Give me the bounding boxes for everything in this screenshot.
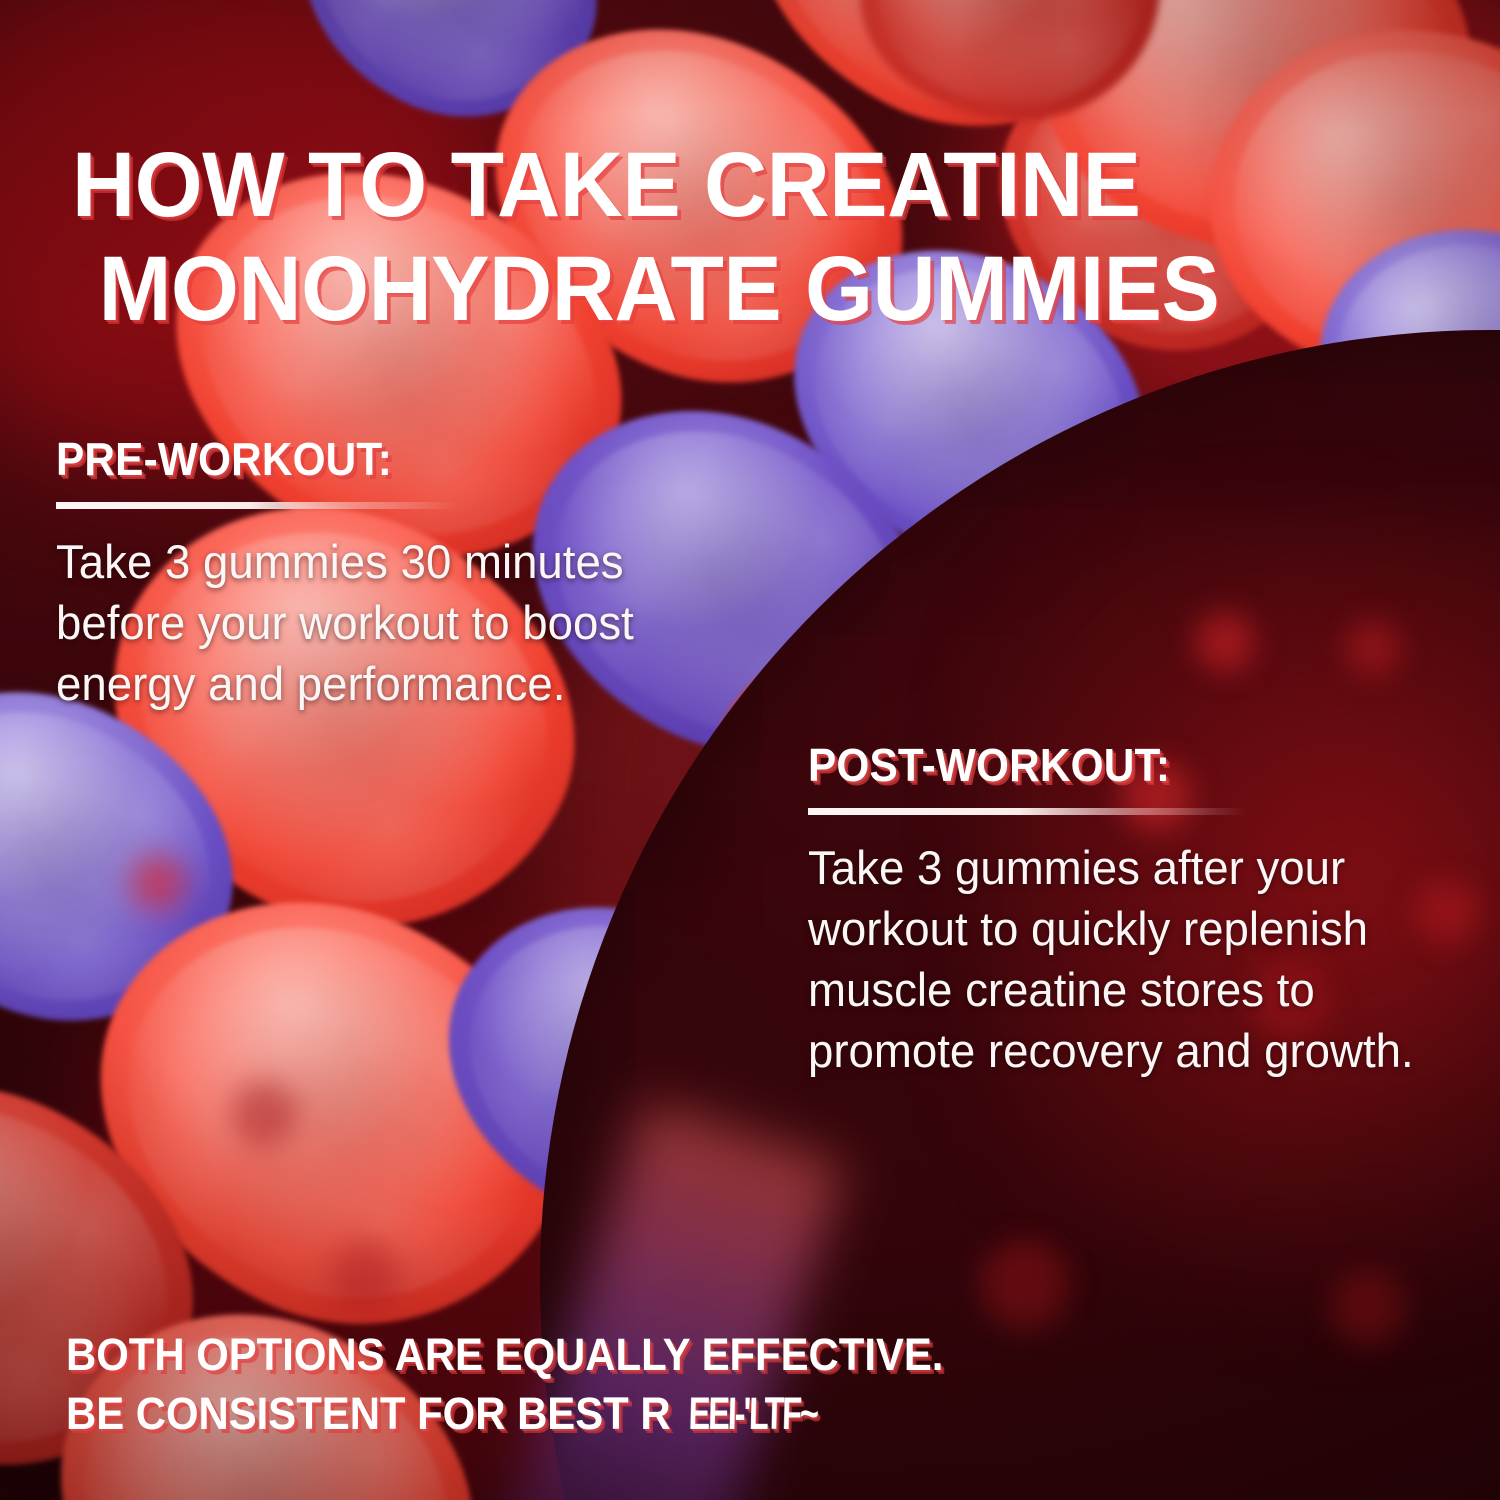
footer-note: BOTH OPTIONS ARE EQUALLY EFFECTIVE. BE C…: [66, 1326, 943, 1443]
section-post-workout: POST-WORKOUT: Take 3 gummies after your …: [808, 738, 1468, 1128]
section-pre-workout-body: Take 3 gummies 30 minutes before your wo…: [56, 531, 735, 714]
footer-line-2: BE CONSISTENT FOR BEST REEI-'LTF~: [66, 1385, 943, 1444]
footer-line-1: BOTH OPTIONS ARE EQUALLY EFFECTIVE.: [66, 1326, 943, 1385]
page-title-line-1: HOW TO TAKE CREATINE: [72, 134, 1140, 236]
creatine-gummies-infographic: HOW TO TAKE CREATINE MONOHYDRATE GUMMIES…: [0, 0, 1500, 1500]
section-pre-workout-kicker: PRE-WORKOUT:: [56, 432, 700, 486]
section-post-workout-divider: [808, 808, 1246, 815]
section-post-workout-body: Take 3 gummies after your workout to qui…: [808, 837, 1448, 1081]
section-pre-workout-divider: [56, 502, 458, 509]
content-layer: HOW TO TAKE CREATINE MONOHYDRATE GUMMIES…: [0, 0, 1500, 1500]
page-title: HOW TO TAKE CREATINE MONOHYDRATE GUMMIES: [72, 134, 1364, 342]
footer-line-2-prefix: BE CONSISTENT FOR BEST R: [66, 1388, 671, 1439]
section-post-workout-kicker: POST-WORKOUT:: [808, 738, 1415, 792]
page-title-line-2: MONOHYDRATE GUMMIES: [72, 238, 1364, 342]
section-pre-workout: PRE-WORKOUT: Take 3 gummies 30 minutes b…: [56, 432, 756, 761]
footer-line-2-garbled-text: EEI-'LTF~: [688, 1385, 818, 1444]
